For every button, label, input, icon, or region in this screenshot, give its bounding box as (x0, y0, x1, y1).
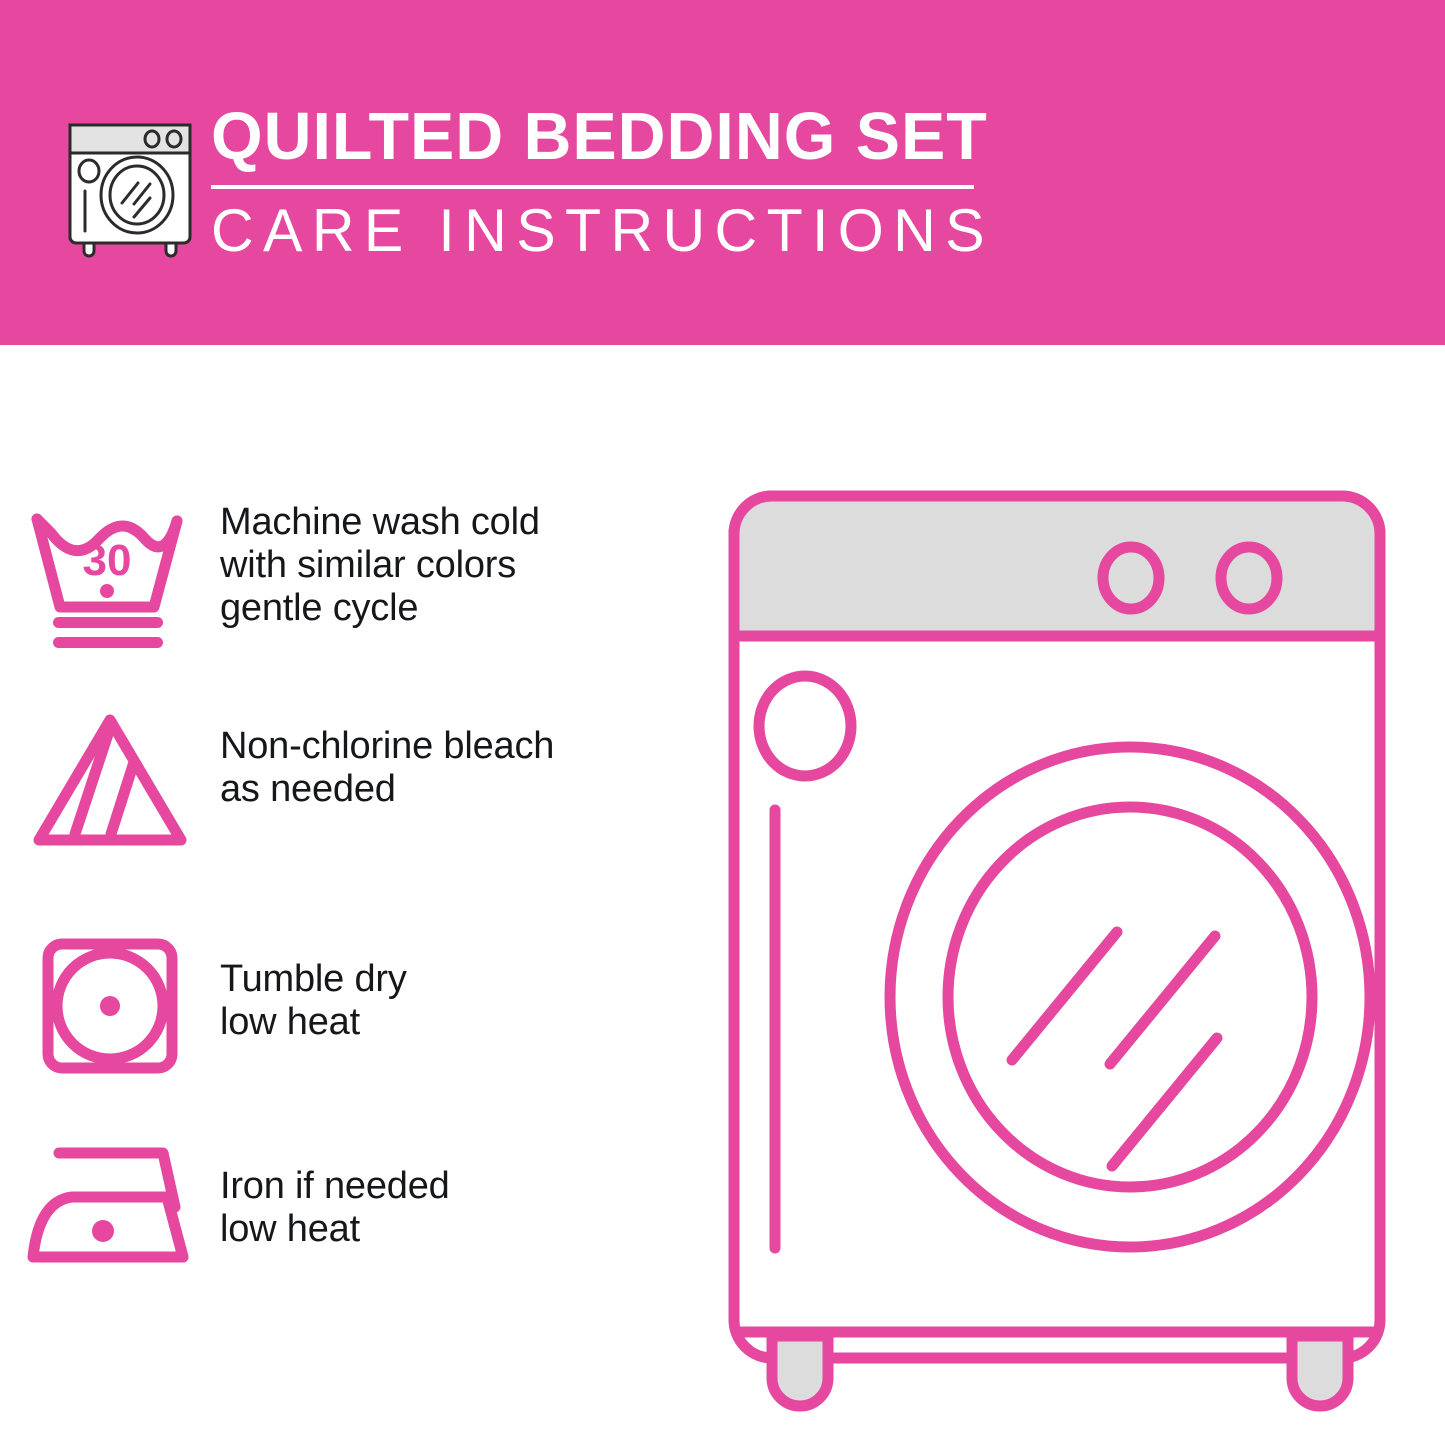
care-text-line: gentle cycle (220, 587, 540, 630)
page-subtitle: CARE INSTRUCTIONS (211, 198, 989, 264)
care-text-line: Non-chlorine bleach (220, 725, 554, 768)
care-text-line: Iron if needed (220, 1165, 450, 1208)
care-item-text-iron: Iron if needed low heat (220, 1135, 450, 1251)
tumble-dry-low-heat-icon (0, 930, 220, 1095)
care-item-tumble-dry: Tumble dry low heat (0, 930, 700, 1095)
care-instructions-page: QUILTED BEDDING SET CARE INSTRUCTIONS 30 (0, 0, 1445, 1445)
care-item-machine-wash: 30 Machine wash cold with similar colors… (0, 495, 700, 660)
header-divider (211, 185, 974, 189)
care-text-line: Machine wash cold (220, 501, 540, 544)
iron-low-heat-icon (0, 1135, 220, 1285)
care-item-text-bleach: Non-chlorine bleach as needed (220, 700, 554, 811)
care-text-line: low heat (220, 1208, 450, 1251)
care-item-iron: Iron if needed low heat (0, 1135, 700, 1285)
washing-machine-icon (60, 103, 200, 258)
large-washing-machine-illustration (712, 470, 1402, 1380)
machine-leg-left (772, 1336, 828, 1406)
header-text-block: QUILTED BEDDING SET CARE INSTRUCTIONS (211, 100, 1001, 264)
care-item-text-machine-wash: Machine wash cold with similar colors ge… (220, 495, 540, 630)
page-title: QUILTED BEDDING SET (211, 100, 993, 174)
machine-leg-right (1292, 1336, 1348, 1406)
care-text-line: with similar colors (220, 544, 540, 587)
care-item-text-tumble-dry: Tumble dry low heat (220, 930, 407, 1044)
care-instructions-list: 30 Machine wash cold with similar colors… (0, 345, 700, 1445)
control-panel (734, 496, 1380, 636)
bleach-triangle-non-chlorine-icon (0, 700, 220, 860)
care-text-line: as needed (220, 768, 554, 811)
wash-tub-30-gentle-icon: 30 (0, 495, 220, 660)
care-text-line: Tumble dry (220, 958, 407, 1001)
wash-temperature-label: 30 (83, 536, 132, 585)
care-text-line: low heat (220, 1001, 407, 1044)
header-banner: QUILTED BEDDING SET CARE INSTRUCTIONS (0, 0, 1445, 345)
care-item-bleach: Non-chlorine bleach as needed (0, 700, 700, 860)
